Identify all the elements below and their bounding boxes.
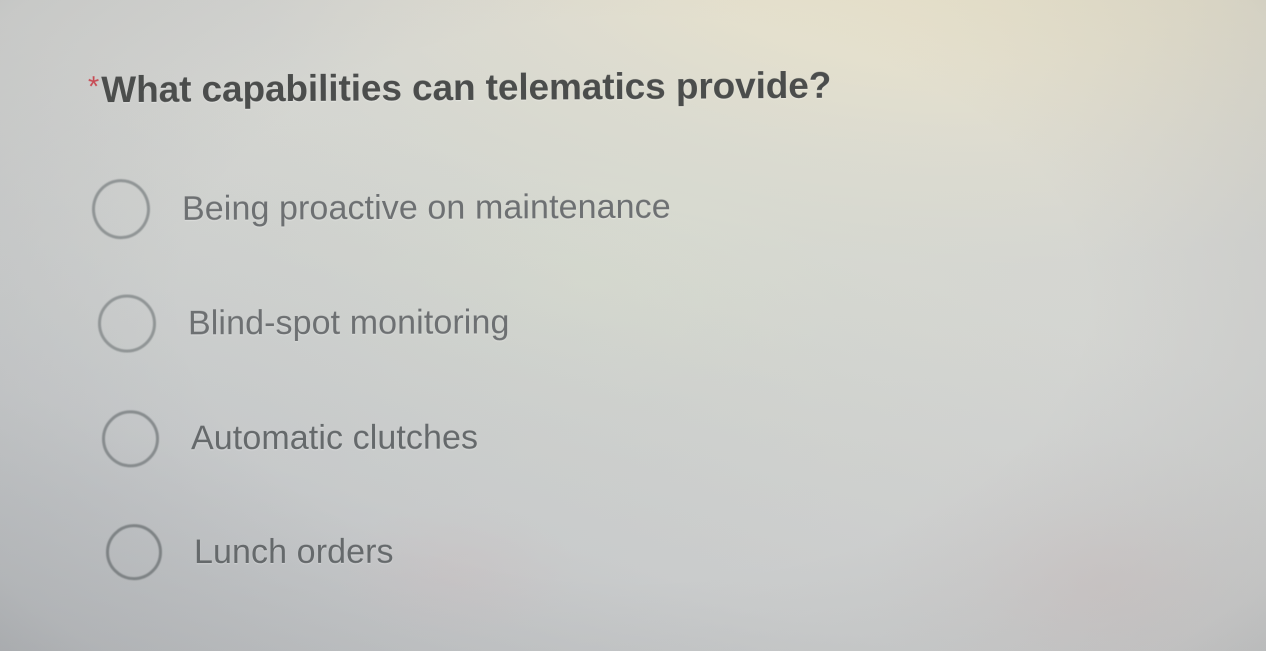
radio-button-icon[interactable] (98, 294, 156, 352)
radio-option-label: Being proactive on maintenance (182, 187, 671, 228)
radio-button-icon[interactable] (102, 410, 159, 467)
radio-option-automatic-clutches[interactable]: Automatic clutches (102, 410, 478, 468)
radio-option-blind-spot-monitoring[interactable]: Blind-spot monitoring (98, 293, 510, 352)
question-heading: * What capabilities can telematics provi… (88, 64, 832, 112)
radio-option-being-proactive-on-maintenance[interactable]: Being proactive on maintenance (92, 177, 671, 240)
radio-option-label: Lunch orders (194, 532, 394, 571)
question-content: * What capabilities can telematics provi… (0, 0, 1266, 651)
radio-option-label: Blind-spot monitoring (188, 303, 510, 343)
radio-option-lunch-orders[interactable]: Lunch orders (106, 524, 394, 580)
radio-button-icon[interactable] (92, 179, 150, 239)
radio-option-label: Automatic clutches (191, 419, 478, 459)
radio-button-icon[interactable] (106, 524, 162, 580)
required-asterisk-icon: * (88, 73, 99, 102)
question-title: What capabilities can telematics provide… (101, 64, 831, 112)
quiz-screen: * What capabilities can telematics provi… (0, 0, 1266, 651)
